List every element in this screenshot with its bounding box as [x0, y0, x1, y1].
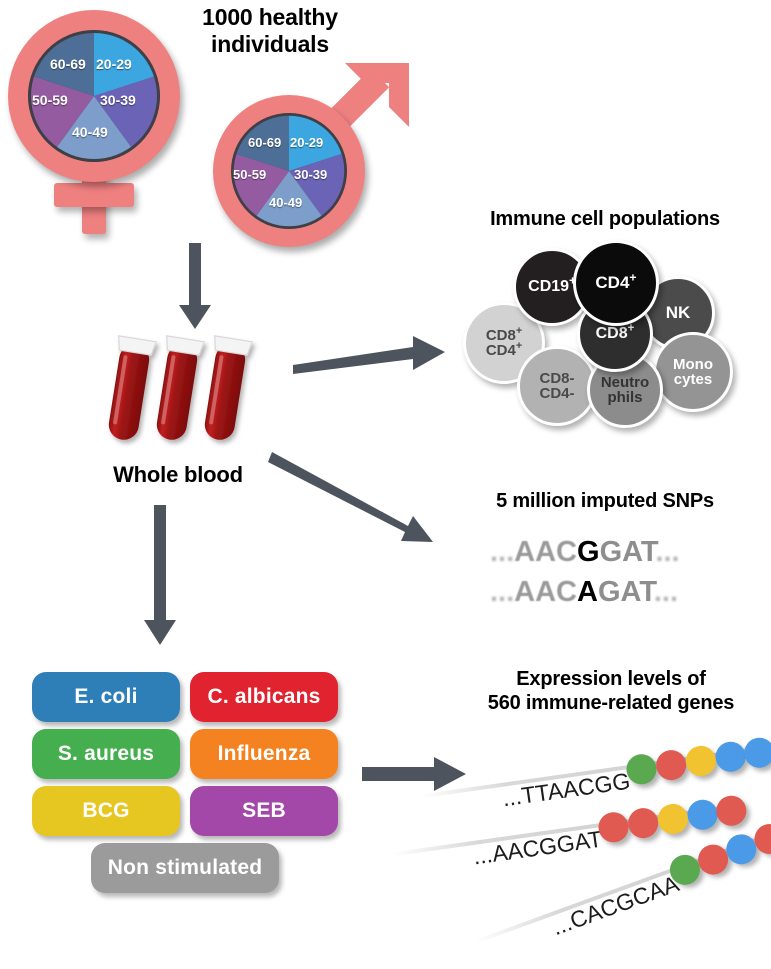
cell-circle-monocytes: Monocytes — [653, 332, 733, 412]
pie-label-20-29: 20-29 — [96, 56, 132, 72]
pie-label-30-39: 30-39 — [294, 167, 327, 182]
cell-label-cd8n-cd4n: CD8-CD4- — [539, 371, 574, 402]
arrow-blood-to-immune — [293, 330, 453, 380]
dna-dot — [654, 748, 688, 782]
cell-label-cd8p: CD8+ — [596, 326, 635, 342]
snps-title: 5 million imputed SNPs — [450, 490, 760, 514]
cohort-title: 1000 healthy individuals — [168, 4, 372, 58]
dna-dot — [714, 794, 748, 828]
immune-populations-cluster: CD8+CD4+ CD19+ CD4+ NK CD8+ CD8-CD4- Neu… — [455, 240, 755, 420]
snp-sequence-row-1: ...AACGGAT... — [490, 536, 680, 569]
pie-label-20-29: 20-29 — [290, 135, 323, 150]
snp-right: GAT — [598, 576, 654, 608]
cell-label-nk: NK — [666, 304, 691, 321]
dna-dot — [742, 736, 771, 770]
dna-dot — [714, 740, 748, 774]
cell-label-cd8p-cd4p: CD8+CD4+ — [486, 328, 522, 359]
figure-canvas: 1000 healthy individuals — [0, 0, 771, 922]
pie-label-50-59: 50-59 — [32, 92, 68, 108]
snp-sequence-row-2: ...AACAGAT... — [490, 576, 678, 609]
dna-dot — [626, 806, 660, 840]
stimulus-box-s-aureus[interactable]: S. aureus — [32, 729, 180, 779]
snp-left: AAC — [514, 576, 577, 608]
arrow-blood-to-snps — [268, 442, 453, 552]
stimulus-box-e-coli[interactable]: E. coli — [32, 672, 180, 722]
snp-suffix: ... — [655, 536, 679, 568]
pie-label-40-49: 40-49 — [269, 195, 302, 210]
pie-label-40-49: 40-49 — [72, 124, 108, 140]
arrow-down-blood-to-stimuli — [140, 505, 180, 650]
stimulus-box-seb[interactable]: SEB — [190, 786, 338, 836]
expression-title-line1: Expression levels of — [455, 668, 767, 692]
blood-tubes-icon — [98, 328, 298, 456]
female-symbol-crossbar — [54, 183, 134, 207]
dna-strand-1: ...TTAACGG — [628, 747, 771, 796]
cell-label-cd4p: CD4+ — [595, 274, 636, 291]
male-gender-symbol: 20-29 30-39 40-49 50-59 60-69 — [205, 55, 420, 250]
whole-blood-label: Whole blood — [88, 462, 268, 488]
pie-label-50-59: 50-59 — [233, 167, 266, 182]
snp-variant: G — [577, 536, 600, 568]
stimuli-panel: E. coli C. albicans S. aureus Influenza … — [32, 672, 352, 904]
dna-dot — [656, 802, 690, 836]
stimulus-box-influenza[interactable]: Influenza — [190, 729, 338, 779]
stimulus-box-c-albicans[interactable]: C. albicans — [190, 672, 338, 722]
expression-title: Expression levels of 560 immune-related … — [455, 668, 767, 715]
cell-label-monocytes: Monocytes — [673, 357, 713, 388]
dna-dot — [684, 744, 718, 778]
snp-suffix: ... — [654, 576, 678, 608]
dna-strands-group: ...TTAACGG ...AACGGAT ...CACGCAA — [430, 730, 771, 920]
female-age-pie: 20-29 30-39 40-49 50-59 60-69 — [28, 30, 160, 162]
pie-label-60-69: 60-69 — [50, 56, 86, 72]
pie-label-30-39: 30-39 — [100, 92, 136, 108]
snp-prefix: ... — [490, 536, 514, 568]
stimulus-box-non-stimulated[interactable]: Non stimulated — [91, 843, 279, 893]
arrow-down-cohort-to-blood — [175, 243, 215, 333]
stimulus-box-bcg[interactable]: BCG — [32, 786, 180, 836]
immune-populations-title: Immune cell populations — [445, 208, 765, 232]
female-gender-symbol: 20-29 30-39 40-49 50-59 60-69 — [8, 10, 188, 240]
cell-label-neutrophils: Neutrophils — [601, 375, 649, 406]
snp-variant: A — [577, 576, 598, 608]
snp-prefix: ... — [490, 576, 514, 608]
snp-left: AAC — [514, 536, 577, 568]
cell-circle-cd4p: CD4+ — [573, 240, 659, 326]
male-age-pie: 20-29 30-39 40-49 50-59 60-69 — [231, 113, 347, 229]
expression-title-line2: 560 immune-related genes — [455, 692, 767, 716]
cell-label-cd19p: CD19+ — [528, 279, 576, 295]
dna-dot — [686, 798, 720, 832]
snp-right: GAT — [600, 536, 656, 568]
pie-label-60-69: 60-69 — [248, 135, 281, 150]
cohort-title-line1: 1000 healthy — [168, 4, 372, 31]
